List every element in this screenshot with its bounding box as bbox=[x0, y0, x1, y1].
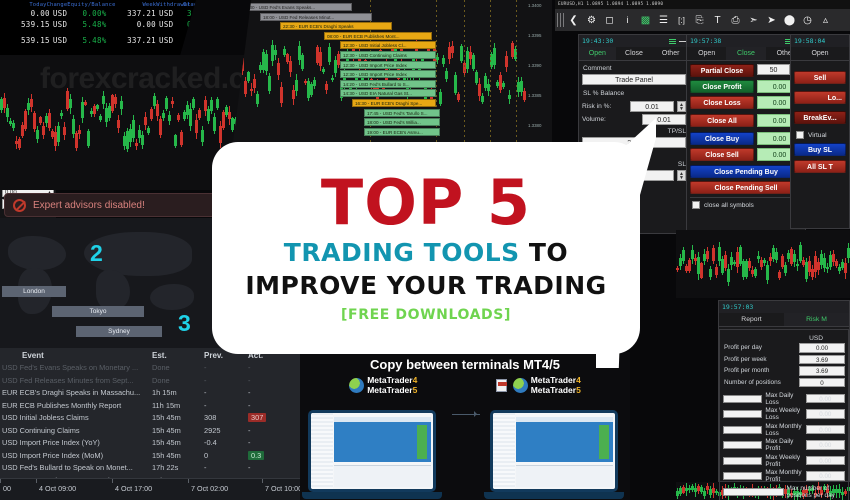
virtual-label: Virtual bbox=[808, 132, 827, 139]
max-positions-per-day-label: Max number of positions per day bbox=[787, 485, 846, 499]
comment-input[interactable]: Trade Panel bbox=[582, 74, 686, 85]
price-tick: 1.3380 bbox=[526, 122, 542, 128]
mt-label: MetaTrader bbox=[367, 375, 412, 385]
cell-currency: USD bbox=[50, 36, 70, 45]
promo-card: TOP 5 TRADING TOOLS TO IMPROVE YOUR TRAD… bbox=[212, 142, 640, 354]
axis-tick-label: 4 Oct 09:00 bbox=[39, 484, 76, 493]
risk-stat-row: Profit per week3.69 bbox=[723, 355, 845, 365]
dll-file-icon bbox=[496, 379, 507, 392]
panel-tabs[interactable]: Report Risk M bbox=[719, 313, 849, 327]
calendar-event-label: 08:00 - EUR ECB Publishes Mont... bbox=[324, 32, 432, 40]
axis-tick bbox=[36, 479, 37, 483]
partial-close-input[interactable]: 50 bbox=[757, 64, 790, 75]
card-headline: TOP 5 bbox=[321, 174, 531, 232]
cell-est: 15h 45m bbox=[152, 425, 204, 438]
close-action-row[interactable]: Close Buy0.00 bbox=[690, 132, 802, 145]
max-monthly-loss-label: Max Monthly Loss bbox=[765, 423, 802, 437]
card-cta: [FREE DOWNLOADS] bbox=[341, 307, 511, 323]
metatrader-logo-source: MetaTrader4 MetaTrader5 bbox=[349, 376, 417, 395]
cell-event: USD Initial Jobless Claims bbox=[0, 412, 152, 425]
cell-percent: 5.48% bbox=[70, 36, 107, 45]
expert-advisors-disabled-banner: Expert advisors disabled! bbox=[4, 193, 226, 217]
table-row[interactable]: USD Import Price Index (YoY)15h 45m-0.4- bbox=[0, 437, 300, 450]
tab-other[interactable]: Other bbox=[652, 47, 689, 60]
axis-tick bbox=[188, 479, 189, 483]
tab-open[interactable]: Open bbox=[579, 47, 616, 60]
bar-chart-icon[interactable]: ▩ bbox=[637, 12, 654, 29]
close-button-list[interactable]: Close Profit0.00Close Loss0.00Close All0… bbox=[690, 80, 802, 161]
max-monthly-loss-checkbox[interactable] bbox=[723, 426, 762, 434]
tab-risk-manager[interactable]: Risk M bbox=[784, 313, 849, 326]
risk-stat-row: Profit per day0.00 bbox=[723, 343, 845, 353]
sl-balance-label: SL % Balance bbox=[582, 89, 686, 99]
session-sydney: Sydney bbox=[76, 326, 162, 337]
terminal-screenshot-target bbox=[490, 410, 618, 492]
tab-report[interactable]: Report bbox=[719, 313, 784, 326]
calendar-event-label: 14:30 - USD EIA Natural Gas St... bbox=[340, 89, 436, 97]
profit-per-day-value: 0.00 bbox=[799, 343, 845, 353]
cell-event: USD Import Price Index (MoM) bbox=[0, 450, 152, 463]
calendar-event-label: 12:30 - USD Import Price Index bbox=[340, 70, 436, 78]
calendar-event-label: 16:30 - EUR ECB's Draghi Spe... bbox=[352, 99, 436, 107]
header-equity: Equity/Balance bbox=[67, 2, 109, 8]
axis-tick bbox=[0, 479, 1, 483]
clock-icon[interactable]: ◷ bbox=[799, 12, 816, 29]
max-daily-profit-checkbox[interactable] bbox=[723, 441, 762, 449]
price-tick: 1.3400 bbox=[526, 2, 542, 8]
cell-percent: 0.00% bbox=[70, 9, 107, 18]
cell-value: 0.00 bbox=[4, 9, 50, 18]
copy-direction-arrow bbox=[452, 414, 480, 415]
session-london: London bbox=[2, 286, 66, 297]
max-weekly-profit-value[interactable]: 0.00 bbox=[806, 456, 845, 466]
number-of-positions-value: 0 bbox=[799, 378, 845, 388]
mt-label: MetaTrader bbox=[367, 385, 412, 395]
calendar-event-label: 16:30 - USD Fed's Evans Speaks... bbox=[240, 3, 352, 11]
cell-est: 15h 45m bbox=[152, 437, 204, 450]
badge-number-3: 3 bbox=[178, 310, 191, 337]
volume-label: Volume: bbox=[582, 116, 639, 123]
cell-currency: USD bbox=[156, 20, 176, 29]
virtual-checkbox[interactable] bbox=[796, 131, 804, 139]
card-subhead-highlight: TRADING TOOLS bbox=[284, 238, 520, 267]
tab-close[interactable]: Close bbox=[726, 47, 765, 60]
table-row[interactable]: USD Import Price Index (MoM)15h 45m00.3 bbox=[0, 450, 300, 463]
tpsl-label: TP/SL bbox=[582, 127, 686, 137]
close-buy-button[interactable]: Close Buy bbox=[690, 132, 754, 145]
header-change: Change bbox=[47, 2, 68, 8]
all-sl-button[interactable]: All SL T bbox=[794, 160, 846, 173]
calendar-overlay-chart: 16:30 - USD Fed's Evans Speaks...18:00 -… bbox=[232, 0, 552, 150]
prohibited-icon bbox=[13, 199, 26, 212]
price-tick: 1.3385 bbox=[526, 92, 542, 98]
risk-limit-row[interactable]: Max Monthly Loss0.00 bbox=[723, 423, 845, 437]
symbol-quote-bar: EURUSD,H1 1.0895 1.0894 1.0895 1.0890 bbox=[555, 0, 850, 9]
terminal-screenshot-source bbox=[308, 410, 436, 492]
panel-tabs[interactable]: Open Close Other bbox=[687, 47, 805, 61]
session-tokyo: Tokyo bbox=[52, 306, 144, 317]
mt-version: 4 bbox=[413, 375, 418, 385]
cell-prev: 308 bbox=[204, 412, 248, 425]
max-daily-loss-value[interactable]: 0.00 bbox=[806, 394, 845, 404]
cell-prev: 2925 bbox=[204, 425, 248, 438]
card-subhead-2: IMPROVE YOUR TRADING bbox=[245, 271, 606, 300]
cell-percent: 5.48% bbox=[70, 20, 107, 29]
mt-version: 5 bbox=[413, 385, 418, 395]
panel-titlebar: 19:57:38 bbox=[687, 35, 805, 47]
metatrader-toolbar: ❮ ⚙ ◻ i ▩ ☰ [:] ⎘ T ⎙ ➣ ➤ ⬤ ◷ ▵ bbox=[555, 9, 850, 31]
risk-limit-row[interactable]: Max Weekly Profit0.00 bbox=[723, 454, 845, 468]
mt-version: 4 bbox=[576, 375, 581, 385]
news-row-list: USD Fed's Evans Speaks on Monetary ...Do… bbox=[0, 362, 300, 487]
table-row[interactable]: USD Initial Jobless Claims15h 45m308307 bbox=[0, 412, 300, 425]
cursor-arrow-icon[interactable]: ➣ bbox=[745, 12, 762, 29]
cell-event: EUR ECB Publishes Monthly Report bbox=[0, 400, 152, 413]
panel-titlebar: 19:58:04 bbox=[791, 35, 849, 47]
close-action-row[interactable]: Close Loss0.00 bbox=[690, 96, 802, 109]
risk-limit-row[interactable]: Max Monthly Profit0.00 bbox=[723, 469, 845, 483]
tab-close[interactable]: Close bbox=[616, 47, 653, 60]
sell-button[interactable]: Sell bbox=[794, 71, 846, 84]
cell-est: 1h 15m bbox=[152, 387, 204, 400]
profit-per-day-label: Profit per day bbox=[723, 343, 796, 353]
max-weekly-profit-label: Max Weekly Profit bbox=[765, 454, 802, 468]
copier-title: Copy between terminals MT4/5 bbox=[300, 352, 630, 372]
cell-value: 0.00 bbox=[107, 20, 156, 29]
max-weekly-profit-checkbox[interactable] bbox=[723, 457, 762, 465]
close-action-row[interactable]: Close All0.00 bbox=[690, 114, 802, 127]
price-tick: 1.3395 bbox=[526, 32, 542, 38]
panel-time: 19:57:03 bbox=[722, 303, 753, 311]
cell-actual: - bbox=[248, 387, 296, 400]
cell-currency: USD bbox=[50, 9, 70, 18]
panel-titlebar: 19:57:03 bbox=[719, 301, 849, 313]
gear-icon[interactable]: ⚙ bbox=[583, 12, 600, 29]
grip-handle-icon[interactable] bbox=[557, 13, 564, 27]
back-chevron-icon[interactable]: ❮ bbox=[565, 12, 582, 29]
risk-limit-row[interactable]: Max Daily Loss0.00 bbox=[723, 392, 845, 406]
cell-est: 17h 22s bbox=[152, 462, 204, 475]
cell-est: 11h 15m bbox=[152, 400, 204, 413]
cell-event: EUR ECB's Draghi Speaks in Massachu... bbox=[0, 387, 152, 400]
close-sell-button[interactable]: Close Sell bbox=[690, 148, 754, 161]
table-row[interactable]: USD Continuing Claims15h 45m2925- bbox=[0, 425, 300, 438]
panel-time: 19:43:30 bbox=[582, 37, 613, 45]
sl-stepper[interactable]: ▲▼ bbox=[677, 170, 686, 181]
bell-icon[interactable]: ▵ bbox=[817, 12, 834, 29]
price-tick: 1.3390 bbox=[526, 62, 542, 68]
number-of-positions-label: Number of positions bbox=[723, 378, 796, 388]
calendar-event-label: 12:30 - USD Initial Jobless Cl... bbox=[340, 41, 436, 49]
panel-titlebar: 19:43:30 bbox=[579, 35, 689, 47]
cell-est: Done bbox=[152, 362, 204, 375]
tab-open[interactable]: Open bbox=[791, 47, 849, 60]
ea-banner-label: Expert advisors disabled! bbox=[33, 200, 145, 211]
close-action-row[interactable]: Close Profit0.00 bbox=[690, 80, 802, 93]
axis-tick-label: 00 bbox=[3, 484, 11, 493]
cell-actual: - bbox=[248, 437, 296, 450]
calendar-event-label: 18:00 - USD Fed's Willia... bbox=[364, 118, 440, 126]
badge-number-2: 2 bbox=[90, 240, 103, 267]
calendar-event-label: 18:00 - USD Fed Releases Minut... bbox=[260, 13, 372, 21]
close-all-symbols-label: close all symbols bbox=[704, 202, 754, 209]
cell-actual: - bbox=[248, 462, 296, 475]
cell-value: 337.21 bbox=[107, 9, 156, 18]
time-axis: 004 Oct 09:004 Oct 17:007 Oct 02:007 Oct… bbox=[0, 478, 320, 500]
max-daily-profit-label: Max Daily Profit bbox=[765, 438, 802, 452]
header-withdrawal: Withdrawal bbox=[156, 2, 178, 8]
volume-input[interactable]: 0.01 bbox=[642, 114, 686, 125]
trade-panel-right[interactable]: 19:58:04 Open Sell Lo... BreakEv... Virt… bbox=[790, 34, 850, 229]
profit-per-week-label: Profit per week bbox=[723, 355, 796, 365]
max-weekly-loss-value[interactable]: 0.00 bbox=[806, 409, 845, 419]
close-all-button[interactable]: Close All bbox=[690, 114, 754, 127]
cell-event: USD Fed Releases Minutes from Sept... bbox=[0, 375, 152, 388]
mt-label: MetaTrader bbox=[531, 385, 576, 395]
risk-limit-row[interactable]: Max Daily Profit0.00 bbox=[723, 438, 845, 452]
poster-canvas: Today Change Equity/Balance Week Withdra… bbox=[0, 0, 850, 500]
metatrader-logo-target: MetaTrader4 MetaTrader5 bbox=[496, 376, 581, 395]
comment-label: Comment bbox=[582, 64, 686, 74]
risk-limit-row[interactable]: Max Weekly Loss0.00 bbox=[723, 407, 845, 421]
mt-label: MetaTrader bbox=[531, 375, 576, 385]
header-week: Week bbox=[109, 2, 156, 8]
account-table-header: Today Change Equity/Balance Week Withdra… bbox=[0, 2, 215, 8]
breakeven-button[interactable]: BreakEv... bbox=[794, 111, 846, 124]
cell-est: Done bbox=[152, 375, 204, 388]
metatrader-globe-icon bbox=[513, 378, 528, 393]
brackets-icon[interactable]: [:] bbox=[673, 12, 690, 29]
close-pending-buy-button[interactable]: Close Pending Buy bbox=[690, 165, 802, 178]
cell-event: USD Continuing Claims bbox=[0, 425, 152, 438]
cell-actual: - bbox=[248, 400, 296, 413]
minimize-icon[interactable] bbox=[679, 41, 686, 42]
close-profit-button[interactable]: Close Profit bbox=[690, 80, 754, 93]
cell-actual: - bbox=[248, 425, 296, 438]
mt-version: 5 bbox=[576, 385, 581, 395]
axis-tick bbox=[112, 479, 113, 483]
tab-open[interactable]: Open bbox=[687, 47, 726, 60]
calendar-event-label: 14:20 - USD Fed's Bullard to S... bbox=[340, 80, 436, 88]
close-all-symbols-checkbox[interactable] bbox=[692, 201, 700, 209]
max-monthly-profit-checkbox[interactable] bbox=[723, 472, 762, 480]
calendar-event-label: 12:30 - USD Continuing Claims bbox=[340, 51, 436, 59]
profit-per-week-value: 3.69 bbox=[799, 355, 845, 365]
cell-event: USD Fed's Evans Speaks on Monetary ... bbox=[0, 362, 152, 375]
cell-prev: - bbox=[204, 387, 248, 400]
max-weekly-loss-checkbox[interactable] bbox=[723, 410, 762, 418]
buy-sl-button[interactable]: Buy SL bbox=[794, 143, 846, 156]
market-sessions-map: 2 3 London Tokyo Sydney bbox=[0, 218, 230, 348]
cell-value: 337.21 bbox=[107, 36, 156, 45]
panel-time: 19:57:38 bbox=[690, 37, 721, 45]
trade-copier-card: Copy between terminals MT4/5 MetaTrader4… bbox=[300, 352, 630, 500]
cell-prev: - bbox=[204, 362, 248, 375]
trade-panel-close[interactable]: 19:57:38 Open Close Other Partial Close … bbox=[686, 34, 806, 248]
max-daily-loss-checkbox[interactable] bbox=[723, 395, 762, 403]
currency-label: USD bbox=[723, 333, 845, 343]
axis-tick-label: 4 Oct 17:00 bbox=[115, 484, 152, 493]
close-action-row[interactable]: Close Sell0.00 bbox=[690, 148, 802, 161]
cell-event: USD Fed's Bullard to Speak on Monet... bbox=[0, 462, 152, 475]
cell-prev: - bbox=[204, 375, 248, 388]
table-row: 539.15 USD 5.48% 0.00 USD 0.00% bbox=[0, 19, 215, 30]
cell-actual: - bbox=[248, 362, 296, 375]
table-row: 0.00 USD 0.00% 337.21 USD 3.43% bbox=[0, 8, 215, 19]
cell-value: 539.15 bbox=[4, 20, 50, 29]
risk-stat-row: Number of positions0 bbox=[723, 378, 845, 388]
cell-est: 15h 45m bbox=[152, 412, 204, 425]
risk-stepper[interactable]: ▲▼ bbox=[677, 101, 686, 112]
shape-icon[interactable]: ⬤ bbox=[781, 12, 798, 29]
max-weekly-loss-label: Max Weekly Loss bbox=[765, 407, 802, 421]
cell-value: 539.15 bbox=[4, 36, 50, 45]
profit-per-month-label: Profit per month bbox=[723, 366, 796, 376]
cell-prev: -0.4 bbox=[204, 437, 248, 450]
cell-actual: 0.3 bbox=[248, 450, 296, 463]
camera-icon[interactable]: ◻ bbox=[601, 12, 618, 29]
candle-series bbox=[676, 230, 850, 298]
calendar-event-label: 19:00 - EUR ECB's Asmu... bbox=[364, 128, 440, 136]
table-row[interactable]: EUR ECB Publishes Monthly Report11h 15m-… bbox=[0, 400, 300, 413]
calendar-event-label: 17:45 - USD Fed's Tarullo S... bbox=[364, 109, 440, 117]
cell-actual: - bbox=[248, 375, 296, 388]
panel-tabs[interactable]: Open bbox=[791, 47, 849, 61]
header-event: Event bbox=[0, 351, 152, 360]
max-daily-loss-label: Max Daily Loss bbox=[765, 392, 802, 406]
list-icon[interactable]: ☰ bbox=[655, 12, 672, 29]
max-daily-profit-value[interactable]: 0.00 bbox=[806, 440, 845, 450]
calendar-event-label: 12:30 - USD Import Price Index bbox=[340, 61, 436, 69]
max-monthly-profit-value[interactable]: 0.00 bbox=[806, 471, 845, 481]
risk-stat-row: Profit per month3.69 bbox=[723, 366, 845, 376]
candlestick-chart-right bbox=[676, 230, 850, 298]
table-row[interactable]: USD Fed's Bullard to Speak on Monet...17… bbox=[0, 462, 300, 475]
axis-tick-label: 7 Oct 10:00 bbox=[265, 484, 302, 493]
metatrader-globe-icon bbox=[349, 378, 364, 393]
table-row[interactable]: USD Fed's Evans Speaks on Monetary ...Do… bbox=[0, 362, 300, 375]
panel-tabs[interactable]: Open Close Other bbox=[579, 47, 689, 61]
header-today: Today bbox=[4, 2, 47, 8]
cell-currency: USD bbox=[156, 36, 176, 45]
cell-currency: USD bbox=[156, 9, 176, 18]
info-icon[interactable]: i bbox=[619, 12, 636, 29]
pointer-icon[interactable]: ➤ bbox=[763, 12, 780, 29]
axis-tick bbox=[262, 479, 263, 483]
page-icon[interactable]: ⎘ bbox=[691, 12, 708, 29]
text-tool-icon[interactable]: T bbox=[709, 12, 726, 29]
risk-label: Risk in %: bbox=[582, 103, 627, 110]
long-button[interactable]: Lo... bbox=[794, 91, 846, 104]
risk-stats-list: Profit per day0.00Profit per week3.69Pro… bbox=[723, 343, 845, 388]
cell-actual: 307 bbox=[248, 412, 296, 425]
card-subhead-rest: TO bbox=[529, 238, 568, 267]
max-monthly-profit-label: Max Monthly Profit bbox=[765, 469, 802, 483]
cell-prev: - bbox=[204, 462, 248, 475]
table-row[interactable]: USD Fed Releases Minutes from Sept...Don… bbox=[0, 375, 300, 388]
close-loss-button[interactable]: Close Loss bbox=[690, 96, 754, 109]
cell-prev: - bbox=[204, 400, 248, 413]
partial-close-button[interactable]: Partial Close bbox=[690, 64, 754, 77]
close-pending-sell-button[interactable]: Close Pending Sell bbox=[690, 181, 802, 194]
risk-limits-list[interactable]: Max Daily Loss0.00Max Weekly Loss0.00Max… bbox=[723, 392, 845, 484]
table-row[interactable]: EUR ECB's Draghi Speaks in Massachu...1h… bbox=[0, 387, 300, 400]
max-positions-per-day-checkbox[interactable] bbox=[723, 488, 784, 496]
risk-input[interactable]: 0.01 bbox=[630, 101, 674, 112]
axis-tick-label: 7 Oct 02:00 bbox=[191, 484, 228, 493]
profit-per-month-value: 3.69 bbox=[799, 366, 845, 376]
risk-manager-panel[interactable]: 19:57:03 Report Risk M USD Profit per da… bbox=[718, 300, 850, 482]
header-est: Est. bbox=[152, 351, 204, 360]
max-monthly-loss-value[interactable]: 0.00 bbox=[806, 425, 845, 435]
menu-icon[interactable] bbox=[669, 39, 676, 44]
price-scale: 1.3400 1.3395 1.3390 1.3385 1.3380 bbox=[526, 0, 552, 150]
cell-prev: 0 bbox=[204, 450, 248, 463]
cell-event: USD Import Price Index (YoY) bbox=[0, 437, 152, 450]
cell-currency: USD bbox=[50, 20, 70, 29]
note-icon[interactable]: ⎙ bbox=[727, 12, 744, 29]
calendar-event-label: 22:30 - EUR ECB's Draghi Speaks bbox=[280, 22, 392, 30]
cell-est: 15h 45m bbox=[152, 450, 204, 463]
panel-time: 19:58:04 bbox=[794, 37, 825, 45]
